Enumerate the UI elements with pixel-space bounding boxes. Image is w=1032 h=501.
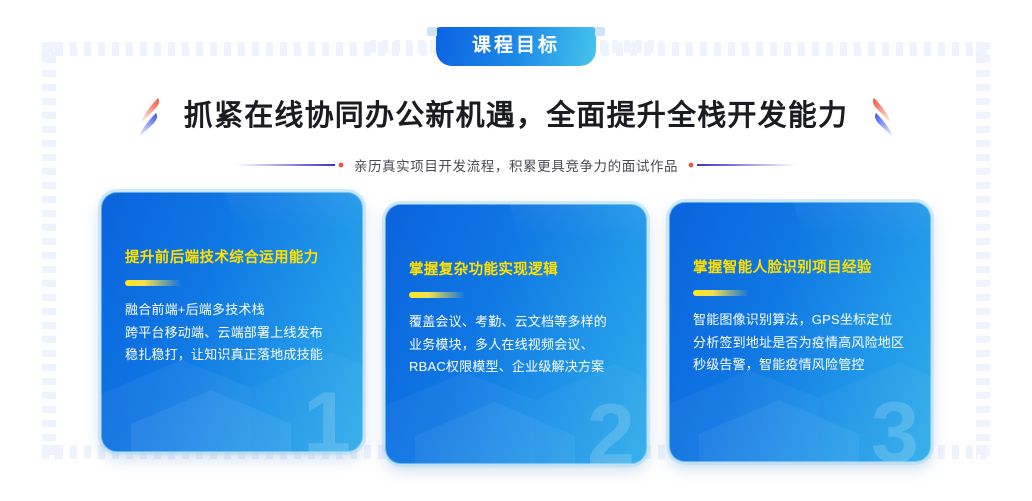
card-body-line: 跨平台移动端、云端部署上线发布 <box>125 322 343 344</box>
card-body-line: 融合前端+后端多技术栈 <box>125 299 343 321</box>
card-body-line: 覆盖会议、考勤、云文档等多样的 <box>409 311 627 333</box>
section-badge: 课程目标 <box>436 27 596 66</box>
card-body: 智能图像识别算法，GPS坐标定位 分析签到地址是否为疫情高风险地区 秒级告警，智… <box>693 309 911 376</box>
card-body-line: RBAC权限模型、企业级解决方案 <box>409 356 627 378</box>
card-body-line: 智能图像识别算法，GPS坐标定位 <box>693 309 911 331</box>
goal-card-1[interactable]: 1 提升前后端技术综合运用能力 融合前端+后端多技术栈 跨平台移动端、云端部署上… <box>101 192 363 452</box>
card-body: 融合前端+后端多技术栈 跨平台移动端、云端部署上线发布 稳扎稳打，让知识真正落地… <box>125 299 343 366</box>
comet-accent-right-icon <box>864 96 898 136</box>
card-rule <box>409 292 465 298</box>
badge-stripes-right <box>588 40 662 53</box>
badge-stripes-left <box>370 40 444 53</box>
subtitle-rule-left-icon <box>235 161 345 169</box>
subtitle-row: 亲历真实项目开发流程，积累更具竞争力的面试作品 <box>0 155 1032 175</box>
card-title: 掌握智能人脸识别项目经验 <box>693 260 911 277</box>
card-number: 3 <box>871 390 919 462</box>
card-body-line: 业务模块，多人在线视频会议、 <box>409 334 627 356</box>
page-subtitle: 亲历真实项目开发流程，积累更具竞争力的面试作品 <box>354 155 678 175</box>
headline-row: 抓紧在线协同办公新机遇，全面提升全栈开发能力 <box>0 96 1032 136</box>
card-body-line: 秒级告警，智能疫情风险管控 <box>693 354 911 376</box>
subtitle-rule-right-icon <box>687 161 797 169</box>
card-body-line: 稳扎稳打，让知识真正落地成技能 <box>125 344 343 366</box>
card-title: 掌握复杂功能实现逻辑 <box>409 262 627 279</box>
section-badge-row: 课程目标 <box>0 27 1032 66</box>
goal-card-3[interactable]: 3 掌握智能人脸识别项目经验 智能图像识别算法，GPS坐标定位 分析签到地址是否… <box>669 202 931 462</box>
card-number: 1 <box>303 380 351 452</box>
card-number: 2 <box>587 392 635 464</box>
card-body-line: 分析签到地址是否为疫情高风险地区 <box>693 332 911 354</box>
goal-card-list: 1 提升前后端技术综合运用能力 融合前端+后端多技术栈 跨平台移动端、云端部署上… <box>0 192 1032 464</box>
goal-card-2[interactable]: 2 掌握复杂功能实现逻辑 覆盖会议、考勤、云文档等多样的 业务模块，多人在线视频… <box>385 204 647 464</box>
card-rule <box>125 280 181 286</box>
page-title: 抓紧在线协同办公新机遇，全面提升全栈开发能力 <box>184 98 848 134</box>
card-body: 覆盖会议、考勤、云文档等多样的 业务模块，多人在线视频会议、 RBAC权限模型、… <box>409 311 627 378</box>
card-title: 提升前后端技术综合运用能力 <box>125 250 343 267</box>
card-rule <box>693 290 749 296</box>
comet-accent-left-icon <box>134 96 168 136</box>
